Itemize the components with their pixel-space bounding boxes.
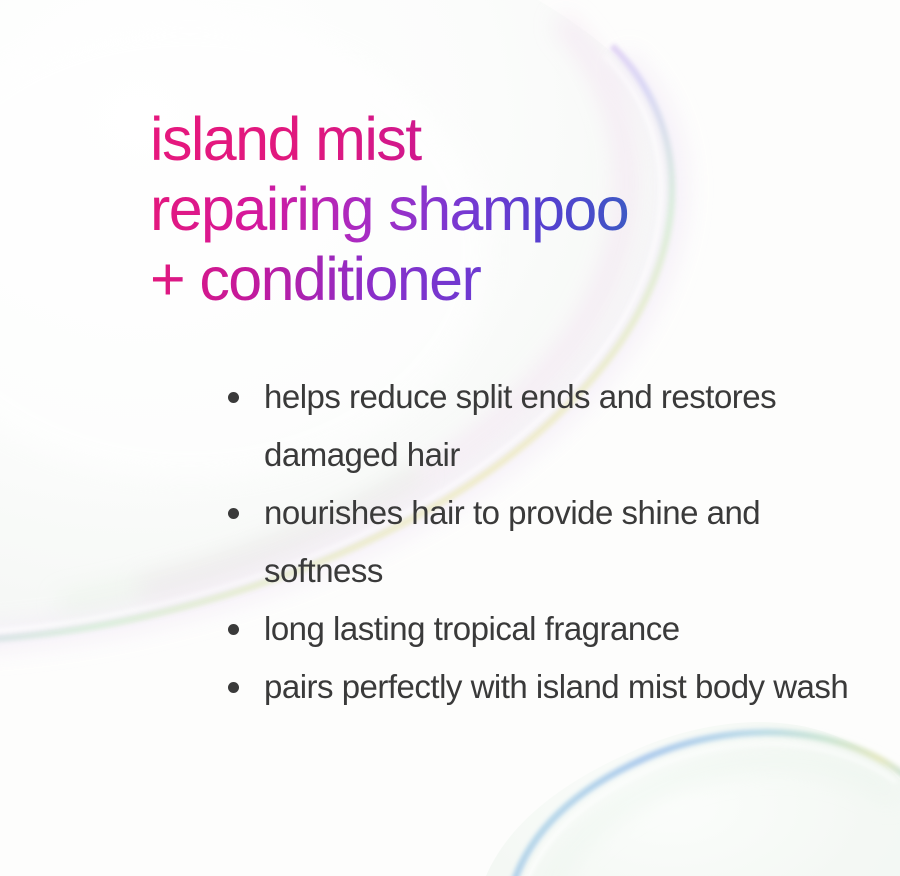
list-item: nourishes hair to provide shine and soft… [228,484,868,600]
bullet-dot-icon [228,392,239,403]
headline-line-2: repairing shampoo [150,174,850,244]
content-layer: island mist repairing shampoo + conditio… [0,0,900,876]
headline-line-1: island mist [150,104,850,174]
bullet-dot-icon [228,682,239,693]
list-item-label: helps reduce split ends and restores dam… [264,368,868,484]
list-item-label: long lasting tropical fragrance [264,600,868,658]
headline-line-3: + conditioner [150,244,850,314]
list-item: pairs perfectly with island mist body wa… [228,658,868,716]
page-title: island mist repairing shampoo + conditio… [150,104,850,314]
product-feature-graphic: island mist repairing shampoo + conditio… [0,0,900,876]
bullet-dot-icon [228,508,239,519]
feature-list: helps reduce split ends and restores dam… [228,368,868,716]
list-item: long lasting tropical fragrance [228,600,868,658]
list-item-label: pairs perfectly with island mist body wa… [264,658,868,716]
list-item: helps reduce split ends and restores dam… [228,368,868,484]
bullet-dot-icon [228,624,239,635]
list-item-label: nourishes hair to provide shine and soft… [264,484,868,600]
